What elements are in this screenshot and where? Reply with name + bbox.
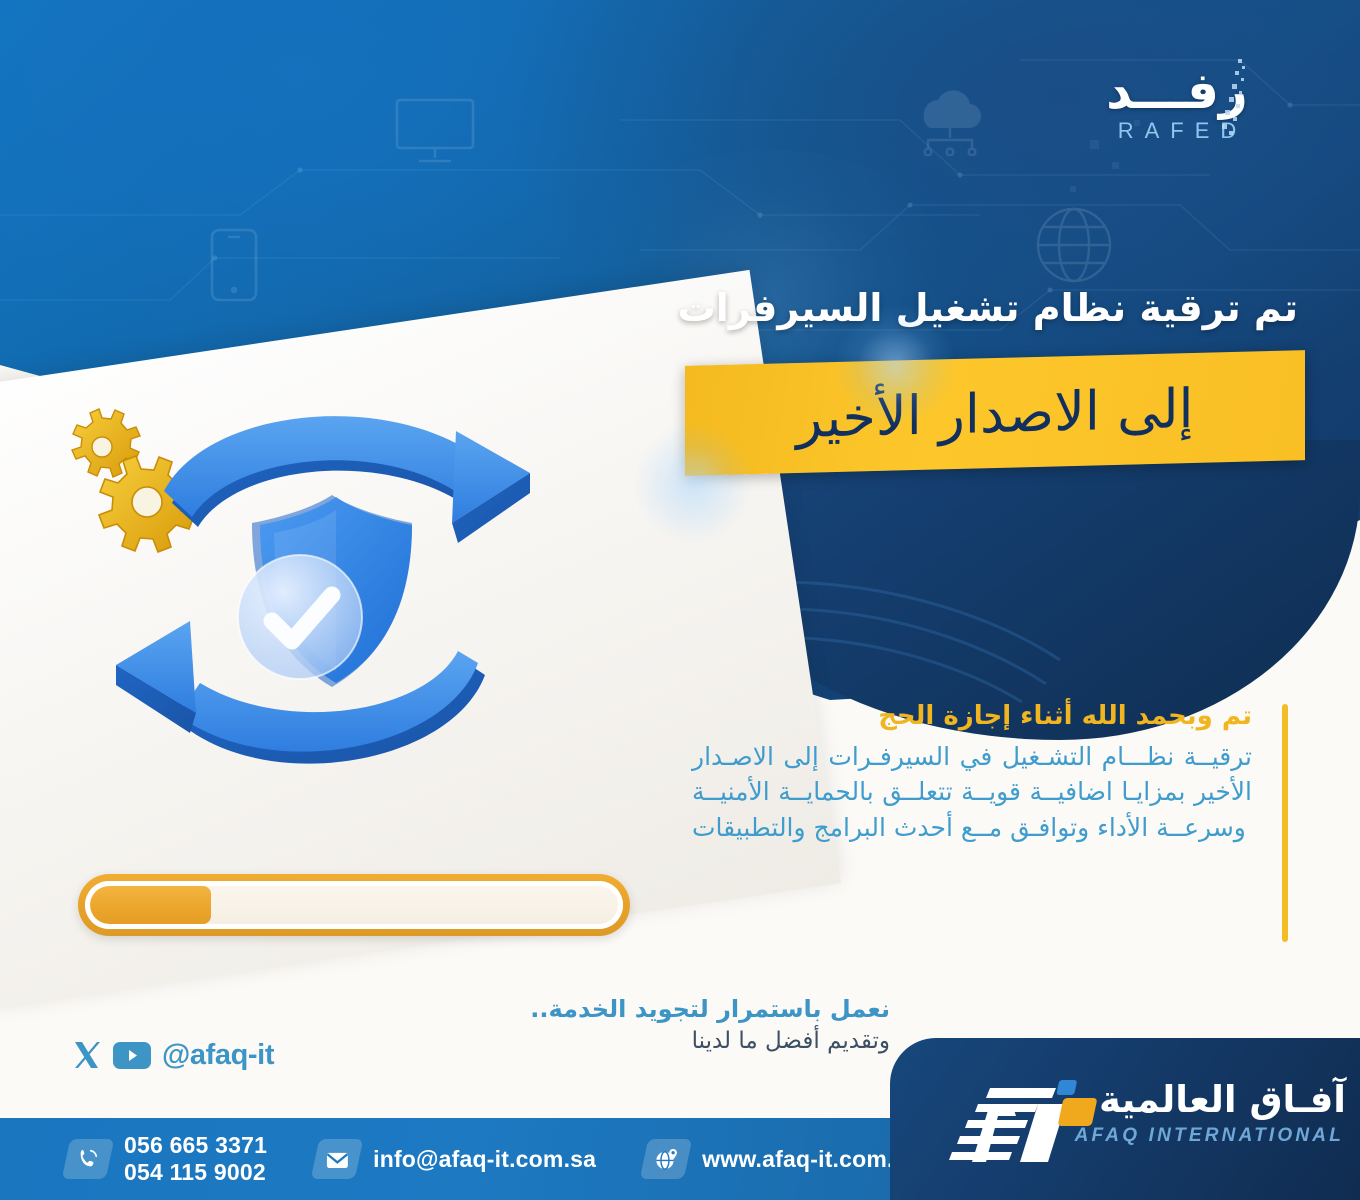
footer-phone-line1: 056 665 3371 [124,1132,267,1159]
afaq-logo-panel: آفـاق العالمية AFAQ INTERNATIONAL [890,1038,1360,1200]
progress-bar-fill [90,886,211,924]
footer-website-text: www.afaq-it.com.sa [702,1146,919,1173]
envelope-icon [311,1139,364,1179]
monitor-icon [395,98,475,164]
footer-item-phone[interactable]: 056 665 3371 054 115 9002 [66,1132,267,1185]
headline-line1: تم ترقية نظام تشغيل السيرفرات [608,286,1298,331]
tagline-block: نعمل باستمرار لتجويد الخدمة.. وتقديم أفض… [470,995,890,1057]
rafed-logo: رفـــد RAFED [1082,66,1272,144]
progress-bar-inner [85,881,623,929]
body-copy-paragraph: ترقيــة نظـــام التشـغيل في السيرفـرات إ… [692,739,1252,846]
cloud-network-icon [900,78,1000,156]
progress-bar[interactable] [78,874,630,936]
footer-item-email[interactable]: info@afaq-it.com.sa [315,1139,596,1179]
gold-divider-rule [1282,704,1288,942]
body-copy-subtitle: تم وبحمد الله أثناء إجازة الحج [692,700,1252,733]
tagline-line1: نعمل باستمرار لتجويد الخدمة.. [470,995,890,1024]
check-badge-icon [238,555,362,679]
smartphone-icon [210,228,258,302]
body-copy-block: تم وبحمد الله أثناء إجازة الحج ترقيــة ن… [692,700,1252,845]
globe-pin-icon [640,1139,693,1179]
globe-icon [1035,206,1113,284]
afaq-latin-wordmark: AFAQ INTERNATIONAL [1075,1125,1344,1147]
progress-bar-track [90,886,618,924]
social-handle-text[interactable]: @afaq-it [162,1039,274,1072]
footer-email-text: info@afaq-it.com.sa [373,1146,596,1173]
phone-icon [62,1139,115,1179]
rafed-dot-flourish [1216,58,1250,144]
upgrade-illustration [60,395,600,835]
footer-phone-line2: 054 115 9002 [124,1159,267,1186]
footer-phone-text: 056 665 3371 054 115 9002 [124,1132,267,1185]
headline-banner: إلى الاصدار الأخير [685,358,1305,468]
poster-canvas: رفـــد RAFED تم ترقية نظام تشغيل السيرفر… [0,0,1360,1200]
youtube-icon[interactable] [113,1042,151,1069]
headline-banner-text: إلى الاصدار الأخير [685,350,1305,476]
afaq-arabic-wordmark: آفـاق العالمية [1099,1078,1346,1121]
tagline-line2: وتقديم أفضل ما لدينا [470,1027,890,1057]
social-handles[interactable]: @afaq-it [72,1036,274,1074]
footer-item-website[interactable]: www.afaq-it.com.sa [644,1139,919,1179]
x-twitter-icon[interactable] [72,1040,102,1070]
